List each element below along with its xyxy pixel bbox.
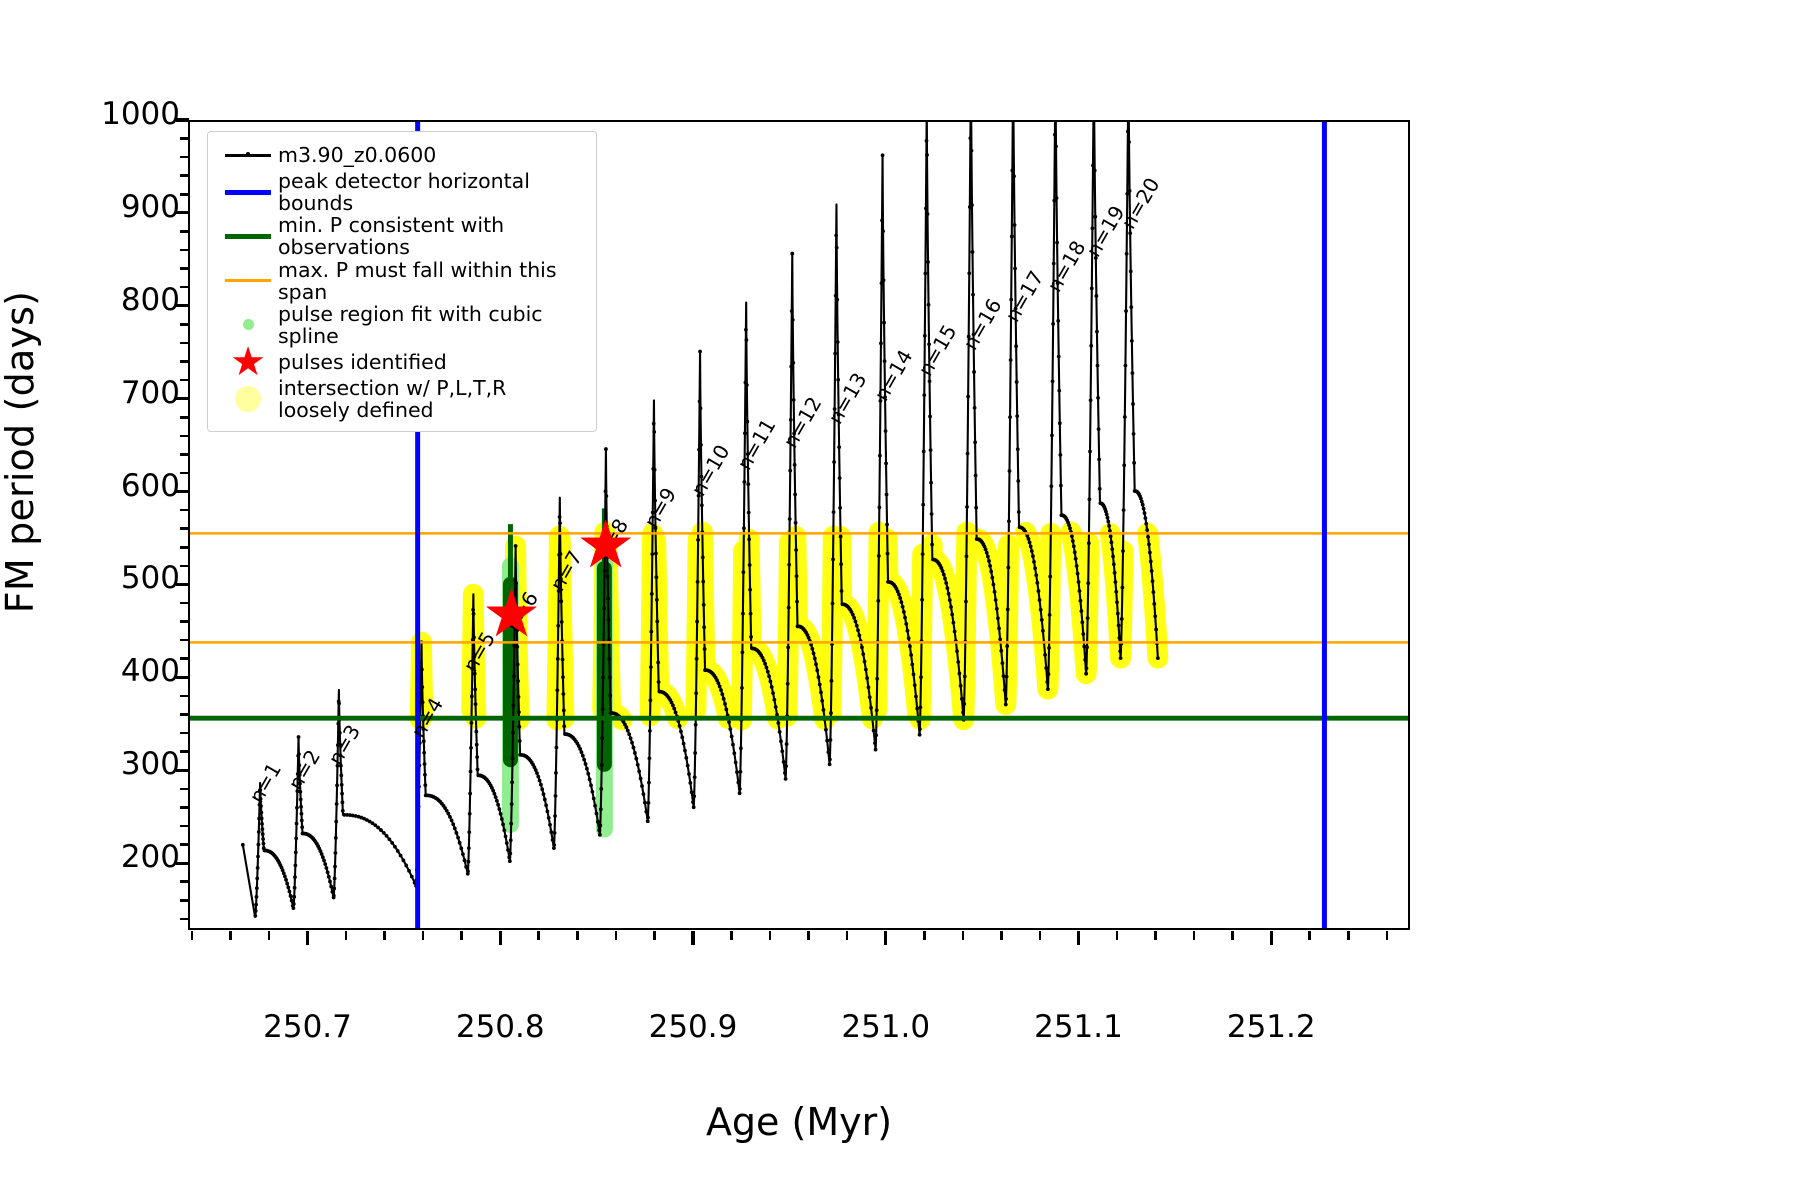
data-point-marker [385,834,389,838]
x-tick-minor [730,931,733,940]
data-point-marker [1122,463,1126,467]
data-point-marker [423,762,427,766]
data-point-marker [995,607,999,611]
data-point-marker [867,685,871,689]
data-point-marker [748,563,752,567]
data-point-marker [1053,133,1057,137]
data-point-marker [293,875,297,879]
data-point-marker [722,697,726,701]
data-point-marker [968,136,972,140]
data-point-marker [543,798,547,802]
data-point-marker [1113,571,1117,575]
data-point-marker [1038,598,1042,602]
data-point-marker [1078,589,1082,593]
data-point-marker [1126,129,1130,133]
data-point-marker [910,663,914,667]
data-point-marker [655,620,659,624]
x-tick-label: 250.7 [198,1012,418,1043]
data-point-marker [1093,215,1097,219]
x-tick-minor [653,931,656,940]
data-point-marker [878,454,882,458]
data-point-marker [813,657,817,661]
data-point-marker [332,894,336,898]
data-point-marker [919,675,923,679]
data-point-marker [1051,379,1055,383]
data-point-marker [292,902,296,906]
data-point-marker [255,895,259,899]
data-point-marker [1005,675,1009,679]
data-point-marker [599,807,603,811]
data-point-marker [1035,581,1039,585]
data-point-marker [1110,541,1114,545]
data-point-marker [699,406,703,410]
y-tick-label: 500 [0,563,180,594]
data-point-marker [501,823,505,827]
data-point-marker [451,822,455,826]
legend: m3.90_z0.0600 peak detector horizontal b… [207,131,597,432]
data-point-marker [458,841,462,845]
data-point-marker [562,724,566,728]
data-point-marker [422,751,426,755]
data-point-marker [1140,500,1144,504]
data-point-marker [656,661,660,665]
data-point-marker [880,218,884,222]
data-point-marker [833,352,837,356]
data-point-marker [508,852,512,856]
data-point-marker [300,825,304,829]
data-point-marker [973,440,977,444]
data-point-marker [772,698,776,702]
data-point-marker [652,422,656,426]
data-point-marker [1156,656,1160,660]
y-tick-label: 1000 [0,99,180,130]
data-point-marker [767,674,771,678]
legend-label-cubic-spline: pulse region fit with cubic spline [278,303,586,347]
data-point-marker [597,828,601,832]
data-point-marker [1048,613,1052,617]
data-point-marker [967,271,971,275]
data-point-marker [1010,169,1014,173]
data-point-marker [839,562,843,566]
data-point-marker [930,543,934,547]
data-point-marker [679,729,683,733]
data-point-marker [1152,590,1156,594]
data-point-marker [337,701,341,705]
data-point-marker [678,724,682,728]
data-point-marker [602,607,606,611]
data-point-marker [1117,623,1121,627]
data-point-marker [469,770,473,774]
data-point-marker [915,707,919,711]
data-point-marker [559,599,563,603]
data-point-marker [586,772,590,776]
data-point-marker [474,702,478,706]
data-point-marker [471,608,475,612]
data-point-marker [688,781,692,785]
data-point-marker [922,450,926,454]
data-point-marker [496,803,500,807]
data-point-marker [1087,541,1091,545]
data-point-marker [684,756,688,760]
data-point-marker [741,650,745,654]
data-point-marker [334,820,338,824]
data-point-marker [835,246,839,250]
data-point-marker [299,798,303,802]
data-point-marker [560,620,564,624]
data-point-marker [387,837,391,841]
data-point-marker [1057,355,1061,359]
data-point-marker [925,153,929,157]
data-point-marker [702,625,706,629]
data-point-marker [812,652,816,656]
data-point-marker [970,149,974,153]
data-point-marker [330,890,334,894]
data-point-marker [473,688,477,692]
data-point-marker [407,869,411,873]
data-point-marker [1124,364,1128,368]
data-point-marker [642,792,646,796]
data-point-marker [446,812,450,816]
data-point-marker [1121,549,1125,553]
legend-label-intersection: intersection w/ P,L,T,R loosely defined [278,377,586,421]
data-point-marker [877,505,881,509]
x-tick-minor [1116,931,1119,940]
data-point-marker [1004,697,1008,701]
data-point-marker [1029,545,1033,549]
data-point-marker [1085,645,1089,649]
data-point-marker [1074,557,1078,561]
data-point-marker [284,878,288,882]
data-point-marker [874,733,878,737]
data-point-marker [341,800,345,804]
data-point-marker [399,854,403,858]
data-point-marker [749,635,753,639]
data-point-marker [589,783,593,787]
data-point-marker [966,452,970,456]
data-point-marker [1072,544,1076,548]
y-tick-label: 800 [0,285,180,316]
legend-label-max-period-span: max. P must fall within this span [278,259,586,303]
data-point-marker [966,395,970,399]
data-point-marker [650,552,654,556]
data-point-marker [340,783,344,787]
legend-label-peak-bounds: peak detector horizontal bounds [278,170,586,214]
y-axis-title: FM period (days) [0,72,42,832]
data-point-marker [791,318,795,322]
data-point-marker [865,676,869,680]
data-point-marker [886,552,890,556]
data-point-marker [1120,586,1124,590]
data-point-marker [863,660,867,664]
data-point-marker [1037,589,1041,593]
data-point-marker [657,680,661,684]
data-point-marker [1016,479,1020,483]
data-point-marker [769,680,773,684]
data-point-marker [1098,487,1102,491]
data-point-marker [326,870,330,874]
data-point-marker [822,708,826,712]
data-point-marker [643,801,647,805]
data-point-marker [595,812,599,816]
data-point-marker [1034,573,1038,577]
data-point-marker [989,570,993,574]
data-point-marker [255,877,259,881]
data-point-marker [738,787,742,791]
legend-key-line-orange [218,267,278,295]
data-point-marker [1055,241,1059,245]
data-point-marker [1012,174,1016,178]
data-point-marker [299,805,303,809]
data-point-marker [1051,322,1055,326]
data-point-marker [295,822,299,826]
data-point-marker [323,862,327,866]
data-point-marker [907,636,911,640]
x-tick-minor [576,931,579,940]
data-point-marker [926,212,930,216]
data-point-marker [300,812,304,816]
data-point-marker [864,668,868,672]
data-point-marker [789,365,793,369]
data-point-marker [382,831,386,835]
data-point-marker [1143,516,1147,520]
data-point-marker [1008,469,1012,473]
data-point-marker [770,685,774,689]
data-point-marker [601,676,605,680]
data-point-marker [918,727,922,731]
data-point-marker [1128,231,1132,235]
legend-label-model: m3.90_z0.0600 [278,144,586,166]
data-point-marker [837,445,841,449]
data-point-marker [941,569,945,573]
data-point-marker [854,620,858,624]
data-point-marker [546,809,550,813]
data-point-marker [1048,575,1052,579]
data-point-marker [336,722,340,726]
data-point-marker [393,845,397,849]
data-point-marker [474,730,478,734]
data-point-marker [1008,415,1012,419]
data-point-marker [944,581,948,585]
data-point-marker [507,855,511,859]
data-point-marker [464,865,468,869]
data-point-marker [582,758,586,762]
data-point-marker [1068,526,1072,530]
data-point-marker [817,675,821,679]
data-point-marker [745,420,749,424]
data-point-marker [872,729,876,733]
data-point-marker [1044,666,1048,670]
data-point-marker [1105,512,1109,516]
data-point-marker [999,649,1003,653]
legend-key-line-blue [218,178,278,206]
x-tick-minor [1308,931,1311,940]
data-point-marker [694,691,698,695]
data-point-marker [1091,164,1095,168]
data-point-marker [463,858,467,862]
data-point-marker [552,843,556,847]
data-point-marker [1130,339,1134,343]
data-point-marker [649,630,653,634]
data-point-marker [500,817,504,821]
data-point-marker [636,763,640,767]
data-point-marker [262,842,266,846]
data-point-marker [1056,319,1060,323]
data-point-marker [538,779,542,783]
data-point-marker [1050,434,1054,438]
data-point-marker [646,816,650,820]
x-tick-major [691,931,694,945]
data-point-marker [1131,402,1135,406]
data-point-marker [549,830,553,834]
data-point-marker [551,838,555,842]
data-point-marker [261,832,265,836]
data-point-marker [814,662,818,666]
data-point-marker [1127,140,1131,144]
data-point-marker [903,616,907,620]
data-point-marker [1115,600,1119,604]
data-point-marker [960,697,964,701]
data-point-marker [742,526,746,530]
data-point-marker [698,400,702,404]
data-point-marker [1132,461,1136,465]
data-point-marker [581,754,585,758]
x-tick-minor [962,931,965,940]
data-point-marker [973,406,977,410]
data-point-marker [561,692,565,696]
data-point-marker [508,859,512,863]
data-point-marker [327,875,331,879]
data-point-marker [788,517,792,521]
data-point-marker [687,772,691,776]
data-point-marker [334,836,338,840]
data-point-marker [961,711,965,715]
data-point-marker [1039,608,1043,612]
data-point-marker [341,809,345,813]
data-point-marker [475,743,479,747]
data-point-marker [747,511,751,515]
data-point-marker [1119,656,1123,660]
data-point-marker [901,605,905,609]
data-point-marker [404,864,408,868]
data-point-marker [461,852,465,856]
data-point-marker [836,340,840,344]
data-point-marker [555,746,559,750]
data-point-marker [1123,415,1127,419]
data-point-marker [741,612,745,616]
data-point-marker [558,515,562,519]
data-point-marker [703,647,707,651]
data-point-marker [1147,542,1151,546]
data-point-marker [285,882,289,886]
data-point-marker [832,460,836,464]
x-tick-minor [1193,931,1196,940]
data-point-marker [984,548,988,552]
data-point-marker [455,831,459,835]
data-point-marker [732,751,736,755]
data-point-marker [289,894,293,898]
data-point-marker [875,708,879,712]
data-point-marker [511,757,515,761]
data-point-marker [647,801,651,805]
data-point-marker [601,707,605,711]
data-point-marker [914,695,918,699]
data-point-marker [923,334,927,338]
data-point-marker [860,645,864,649]
data-point-marker [335,783,339,787]
data-point-marker [831,602,835,606]
data-point-marker [1085,666,1089,670]
data-point-marker [518,739,522,743]
x-tick-label: 250.9 [583,1012,803,1043]
data-point-marker [1112,562,1116,566]
data-point-marker [632,746,636,750]
x-tick-minor [383,931,386,940]
x-tick-minor [1231,931,1234,940]
data-point-marker [1088,450,1092,454]
data-point-marker [745,338,749,342]
data-point-marker [697,448,701,452]
data-point-marker [785,742,789,746]
data-point-marker [1043,653,1047,657]
data-point-marker [818,683,822,687]
data-point-marker [260,822,264,826]
x-tick-major [306,931,309,945]
data-point-marker [765,666,769,670]
data-point-marker [468,812,472,816]
data-point-marker [509,822,513,826]
data-point-marker [763,662,767,666]
data-point-marker [466,869,470,873]
data-point-marker [494,795,498,799]
data-point-marker [734,760,738,764]
data-point-marker [254,909,258,913]
data-point-marker [680,735,684,739]
data-point-marker [942,573,946,577]
data-point-marker [556,657,560,661]
data-point-marker [959,684,963,688]
data-point-marker [1097,427,1101,431]
legend-item-max-period-span: max. P must fall within this span [218,259,586,303]
data-point-marker [744,328,748,332]
data-point-marker [1016,447,1020,451]
data-point-marker [558,521,562,525]
legend-label-min-period: min. P consistent with observations [278,214,586,258]
data-point-marker [723,702,727,706]
legend-key-dot-yellow [218,385,278,413]
data-point-marker [921,552,925,556]
x-tick-minor [615,931,618,940]
data-point-marker [992,583,996,587]
data-point-marker [1045,680,1049,684]
data-point-marker [795,574,799,578]
data-point-marker [423,773,427,777]
data-point-marker [1076,572,1080,576]
data-point-marker [1046,687,1050,691]
data-point-marker [535,771,539,775]
data-point-marker [1118,649,1122,653]
data-point-marker [784,764,788,768]
data-point-marker [1090,287,1094,291]
data-point-marker [1110,547,1114,551]
data-point-marker [1107,524,1111,528]
data-point-marker [376,826,380,830]
data-point-marker [1097,458,1101,462]
data-point-marker [964,600,968,604]
data-point-marker [861,652,865,656]
data-point-marker [260,816,264,820]
x-tick-minor [1154,931,1157,940]
data-point-marker [778,730,782,734]
